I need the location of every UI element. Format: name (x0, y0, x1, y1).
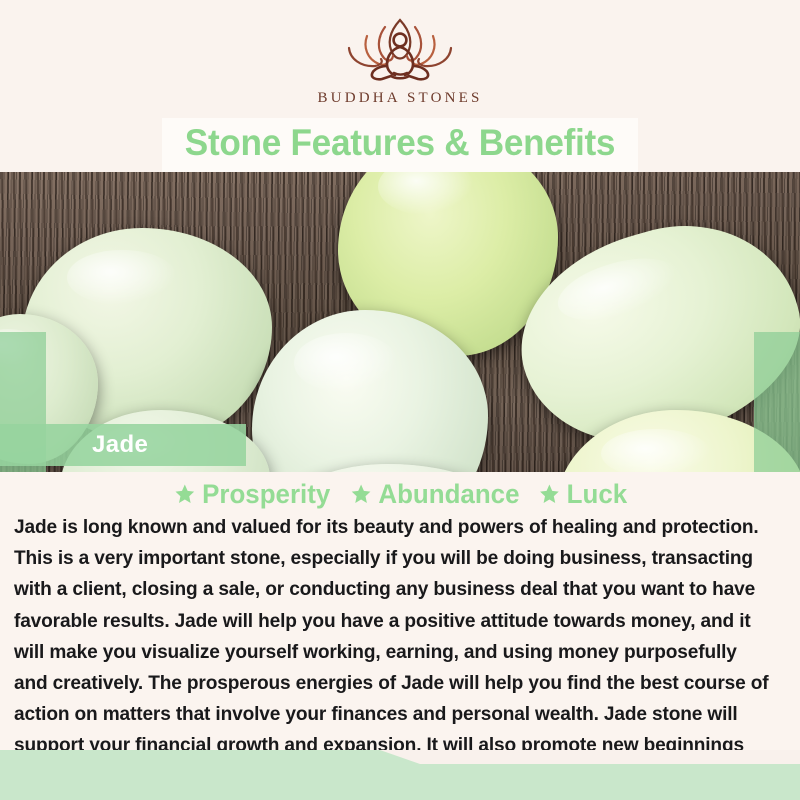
star-icon (351, 483, 372, 505)
lotus-meditation-icon (325, 14, 475, 86)
stone-info-poster: BUDDHA STONES Stone Features & Benefits … (0, 0, 800, 800)
header-section: BUDDHA STONES Stone Features & Benefits (0, 0, 800, 172)
star-icon (174, 483, 195, 505)
stone-name-label: Jade (92, 431, 148, 459)
benefit-label: Prosperity (202, 479, 330, 510)
star-icon (539, 483, 560, 505)
page-title: Stone Features & Benefits (20, 118, 780, 168)
stone-name-badge: Jade (0, 424, 246, 466)
benefits-row: Prosperity Abundance Luck (0, 476, 800, 512)
brand-name: BUDDHA STONES (317, 90, 482, 107)
right-accent-rail (754, 332, 800, 472)
bottom-accent-band (0, 764, 800, 800)
benefit-item-abundance: Abundance (351, 479, 520, 510)
benefit-item-luck: Luck (539, 479, 627, 510)
brand-block: BUDDHA STONES (0, 14, 800, 107)
benefit-label: Abundance (379, 479, 520, 510)
benefit-label: Luck (567, 479, 628, 510)
benefit-item-prosperity: Prosperity (174, 479, 330, 510)
bottom-notch-decor (0, 750, 420, 764)
